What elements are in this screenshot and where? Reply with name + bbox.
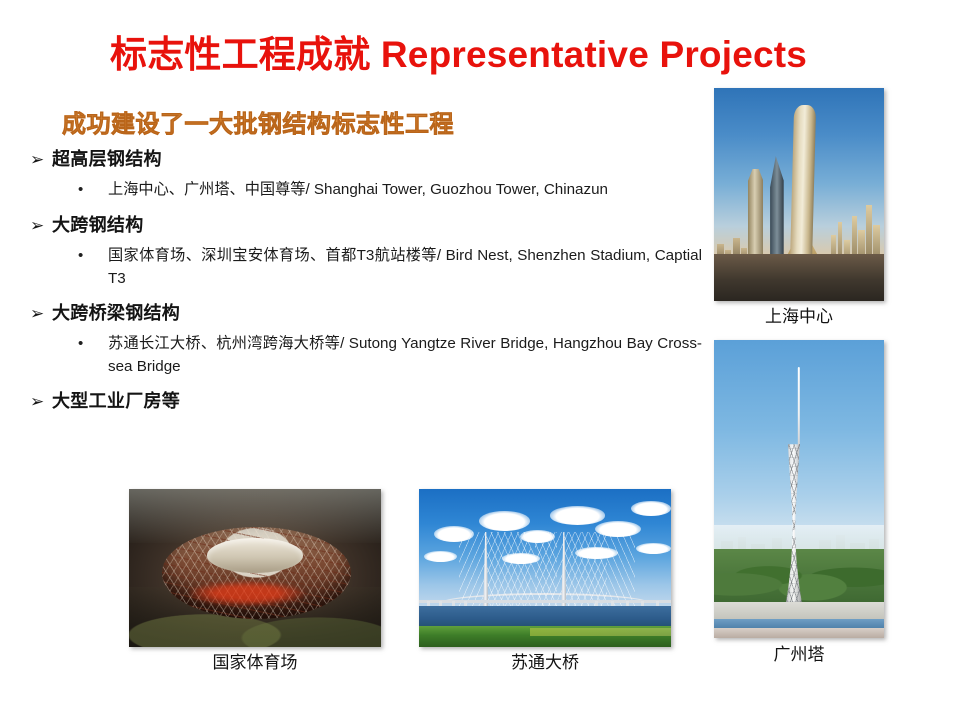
arrow-bullet-icon: ➢ bbox=[26, 388, 52, 415]
canton-tower-photo bbox=[714, 340, 884, 638]
bullet-item-4: ➢ 大型工业厂房等 bbox=[26, 388, 704, 415]
slide-subtitle: 成功建设了一大批钢结构标志性工程 bbox=[62, 104, 454, 139]
sub-bullet-item-2: • 国家体育场、深圳宝安体育场、首都T3航站楼等/ Bird Nest, She… bbox=[26, 244, 704, 290]
sutong-bridge-photo bbox=[419, 489, 671, 647]
bullet-heading-3: 大跨桥梁钢结构 bbox=[52, 300, 180, 327]
caption-canton: 广州塔 bbox=[714, 644, 884, 666]
shanghai-tower-building bbox=[790, 105, 816, 267]
bullet-heading-2: 大跨钢结构 bbox=[52, 212, 144, 239]
bullet-heading-4: 大型工业厂房等 bbox=[52, 388, 180, 415]
dot-bullet-icon: • bbox=[78, 332, 108, 356]
jin-mao-tower bbox=[748, 169, 763, 267]
sub-bullet-item-3: • 苏通长江大桥、杭州湾跨海大桥等/ Sutong Yangtze River … bbox=[26, 332, 704, 378]
dot-bullet-icon: • bbox=[78, 244, 108, 268]
birds-nest-stadium-photo bbox=[129, 489, 381, 647]
river-water bbox=[419, 606, 671, 628]
shanghai-tower-photo bbox=[714, 88, 884, 301]
foreground-grass-highlight bbox=[530, 628, 671, 636]
arrow-bullet-icon: ➢ bbox=[26, 146, 52, 173]
plaza-ground bbox=[714, 602, 884, 620]
sub-bullet-text-2: 国家体育场、深圳宝安体育场、首都T3航站楼等/ Bird Nest, Shenz… bbox=[108, 244, 702, 290]
foreground-ground bbox=[714, 254, 884, 301]
arrow-bullet-icon: ➢ bbox=[26, 212, 52, 239]
page-title: 标志性工程成就 Representative Projects bbox=[110, 26, 870, 84]
slide-canvas: 标志性工程成就 Representative Projects 成功建设了一大批… bbox=[0, 0, 960, 720]
sub-bullet-text-3: 苏通长江大桥、杭州湾跨海大桥等/ Sutong Yangtze River Br… bbox=[108, 332, 702, 378]
bullet-item-1: ➢ 超高层钢结构 bbox=[26, 146, 704, 173]
arrow-bullet-icon: ➢ bbox=[26, 300, 52, 327]
bullet-item-2: ➢ 大跨钢结构 bbox=[26, 212, 704, 239]
bullet-item-3: ➢ 大跨桥梁钢结构 bbox=[26, 300, 704, 327]
river-bank bbox=[714, 628, 884, 638]
stadium-bowl-opening bbox=[207, 538, 303, 573]
stay-cables-right-pylon bbox=[563, 532, 635, 608]
caption-sutong: 苏通大桥 bbox=[419, 652, 671, 674]
caption-birdnest: 国家体育场 bbox=[129, 652, 381, 674]
dot-bullet-icon: • bbox=[78, 178, 108, 202]
sub-bullet-text-1: 上海中心、广州塔、中国尊等/ Shanghai Tower, Guozhou T… bbox=[108, 178, 700, 201]
bullet-heading-1: 超高层钢结构 bbox=[52, 146, 162, 173]
caption-shanghai: 上海中心 bbox=[714, 306, 884, 328]
bullet-list: ➢ 超高层钢结构 • 上海中心、广州塔、中国尊等/ Shanghai Tower… bbox=[26, 146, 704, 417]
red-glow-lighting bbox=[189, 581, 305, 606]
sub-bullet-item-1: • 上海中心、广州塔、中国尊等/ Shanghai Tower, Guozhou… bbox=[26, 178, 704, 202]
